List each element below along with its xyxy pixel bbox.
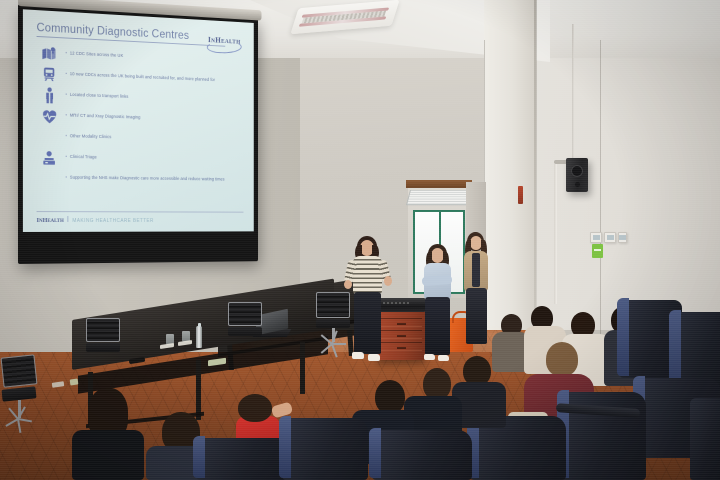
person-desk-icon: [37, 147, 62, 167]
legs: [466, 288, 487, 344]
seated-person-body: [72, 430, 144, 480]
slide-footer-tagline: MAKING HEALTHCARE BETTER: [72, 218, 153, 224]
slide-bullet-text: MRI/ CT and Xray Diagnostic Imaging: [62, 106, 141, 120]
legs: [354, 292, 381, 354]
water-bottle[interactable]: [196, 326, 202, 348]
heartbeat-icon: [37, 106, 62, 127]
wall-pipe: [554, 164, 557, 304]
auditorium-seat[interactable]: [690, 398, 720, 480]
audience-head: [238, 394, 272, 422]
hand-left: [344, 280, 352, 289]
hand-right: [384, 276, 392, 286]
projection-screen: Community Diagnostic Centres InHealth: [18, 4, 258, 264]
slide-bullet-text: Other Modality Clinics: [62, 127, 112, 140]
slide-bullet-text: Supporting the NHS make Diagnostic care …: [62, 169, 225, 183]
light-switch[interactable]: [604, 232, 616, 243]
auditorium-seat[interactable]: [372, 430, 472, 480]
shoe: [368, 354, 380, 361]
slide-footer: InHealth MAKING HEALTHCARE BETTER: [37, 216, 154, 224]
heartbeat-icon: [37, 126, 62, 146]
cable-conduit: [572, 24, 574, 160]
train-icon: [37, 64, 62, 85]
window-blind[interactable]: [406, 190, 472, 205]
light-switch[interactable]: [590, 232, 602, 243]
sticky-note: [70, 378, 79, 385]
slide-footer-brand: InHealth: [37, 217, 64, 224]
audience-head: [375, 380, 405, 414]
slide-bullet-text: Located close to transport links: [62, 86, 129, 100]
presenter-standing-by-wall: [459, 232, 493, 350]
audience-head: [546, 342, 578, 376]
screen-surface: Community Diagnostic Centres InHealth: [23, 9, 254, 232]
fire-alarm-strip: [518, 186, 523, 204]
shoe: [424, 354, 435, 360]
slide-bullet-row: Supporting the NHS make Diagnostic care …: [37, 168, 244, 190]
inner-top: [472, 253, 480, 287]
table-leg: [300, 342, 305, 394]
slide-footer-divider: [68, 216, 69, 222]
light-switch[interactable]: [618, 232, 627, 243]
green-wall-sticker: [592, 244, 603, 258]
slide-bullet-list: 12 CDC Sites across the UK: [37, 43, 244, 190]
wall-speaker-icon: [566, 158, 588, 192]
slide-bullet-text: 12 CDC Sites across the UK: [62, 44, 124, 59]
person-desk-icon: [37, 168, 62, 188]
map-pin-icon: [37, 43, 62, 64]
wall-column-edge: [534, 0, 537, 340]
legs: [425, 297, 450, 355]
light-switch-panel[interactable]: [590, 232, 627, 243]
auditorium-seat[interactable]: [560, 392, 646, 480]
lecture-room-scene: Community Diagnostic Centres InHealth: [0, 0, 720, 480]
table-leg: [196, 360, 201, 420]
wall-seam: [600, 40, 601, 340]
auditorium-seat[interactable]: [282, 418, 368, 480]
window-lintel: [406, 180, 472, 188]
shoe: [438, 355, 449, 361]
slide-footer-rule: [37, 211, 244, 213]
slide-bullet-text: Clinical Triage: [62, 148, 97, 160]
person-icon: [37, 85, 62, 106]
slide-bullet-row: Clinical Triage: [37, 147, 244, 170]
auditorium-seat[interactable]: [196, 438, 292, 480]
shoe: [352, 352, 364, 359]
presentation-slide: Community Diagnostic Centres InHealth: [23, 9, 254, 232]
presenter-listening: [418, 244, 458, 366]
presenter-speaking: [344, 236, 390, 368]
